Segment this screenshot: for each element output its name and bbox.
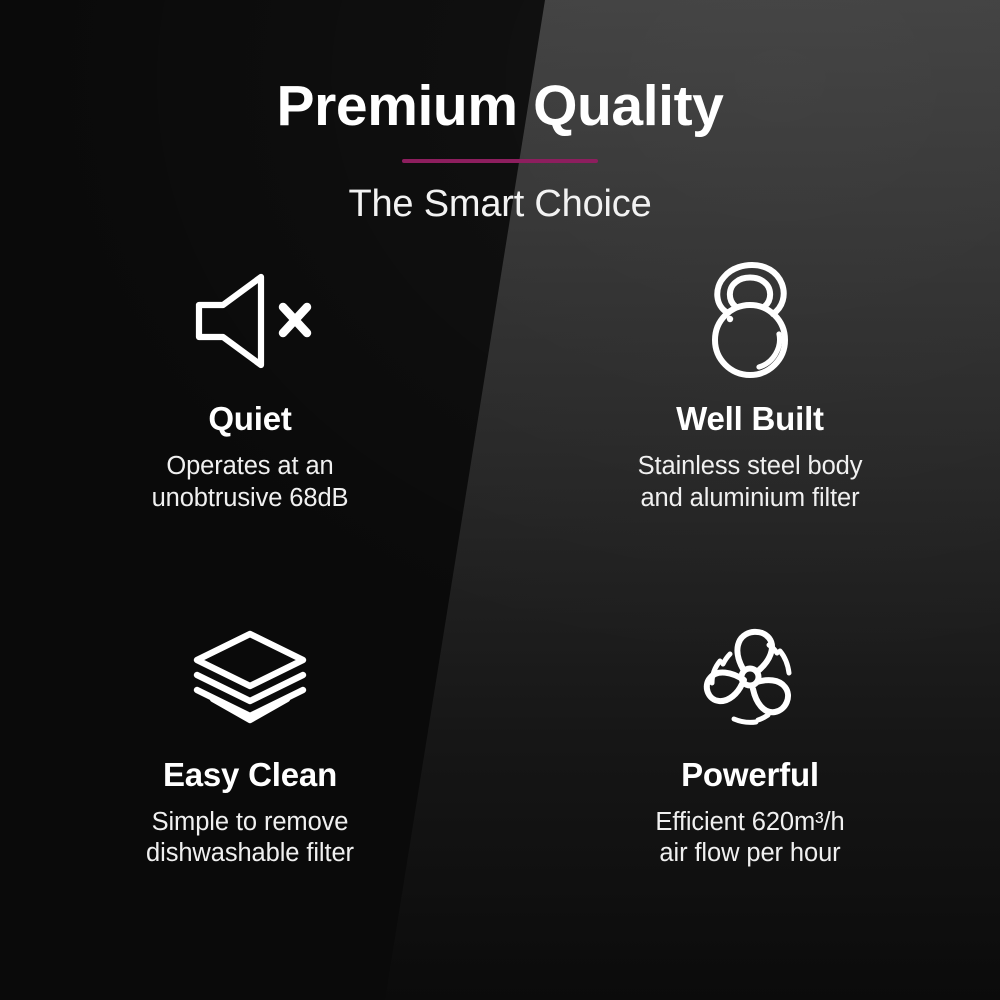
- feature-title: Well Built: [676, 402, 824, 435]
- speaker-mute-icon: [187, 262, 313, 380]
- feature-title: Easy Clean: [163, 758, 337, 791]
- feature-description-line2: and aluminium filter: [638, 483, 863, 515]
- title-underline: [402, 159, 598, 163]
- feature-item-quiet: Quiet Operates at an unobtrusive 68dB: [0, 248, 500, 538]
- feature-description: Stainless steel body and aluminium filte…: [638, 451, 863, 514]
- feature-description-line1: Efficient 620m³/h: [655, 807, 844, 839]
- feature-item-well-built: Well Built Stainless steel body and alum…: [500, 248, 1000, 538]
- feature-description: Efficient 620m³/h air flow per hour: [655, 807, 844, 870]
- feature-description-line1: Operates at an: [152, 451, 349, 483]
- feature-item-easy-clean: Easy Clean Simple to remove dishwashable…: [0, 538, 500, 870]
- feature-description: Operates at an unobtrusive 68dB: [152, 451, 349, 514]
- kettlebell-icon: [697, 262, 803, 380]
- promo-banner: Premium Quality The Smart Choice Quiet O…: [0, 0, 1000, 1000]
- fan-icon: [694, 618, 806, 736]
- layers-stack-icon: [191, 618, 309, 736]
- feature-description-line1: Stainless steel body: [638, 451, 863, 483]
- page-title: Premium Quality: [0, 78, 1000, 135]
- feature-description-line2: dishwashable filter: [146, 838, 354, 870]
- feature-item-powerful: Powerful Efficient 620m³/h air flow per …: [500, 538, 1000, 870]
- feature-description-line1: Simple to remove: [146, 807, 354, 839]
- feature-title: Powerful: [681, 758, 819, 791]
- header: Premium Quality The Smart Choice: [0, 78, 1000, 225]
- feature-title: Quiet: [208, 402, 291, 435]
- page-subtitle: The Smart Choice: [0, 185, 1000, 225]
- feature-description: Simple to remove dishwashable filter: [146, 807, 354, 870]
- feature-description-line2: unobtrusive 68dB: [152, 483, 349, 515]
- feature-grid: Quiet Operates at an unobtrusive 68dB We…: [0, 248, 1000, 870]
- feature-description-line2: air flow per hour: [655, 838, 844, 870]
